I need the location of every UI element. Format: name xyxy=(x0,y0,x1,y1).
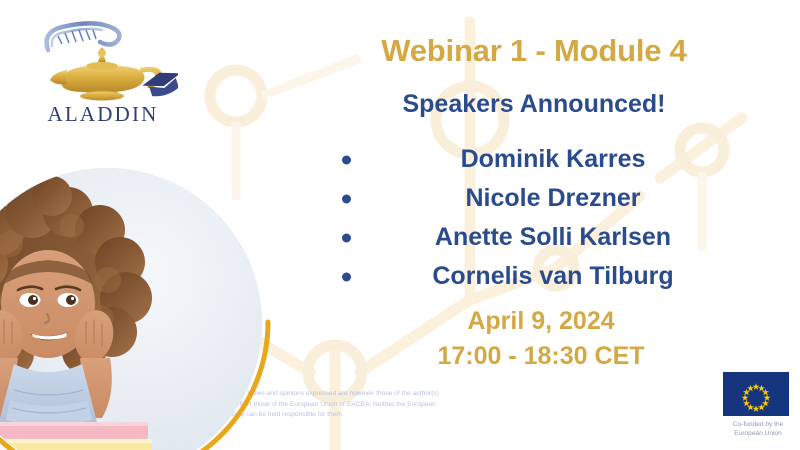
bullet-icon xyxy=(342,155,351,164)
speaker-photo-circle xyxy=(0,168,262,450)
webinar-announcement-poster: ALADDIN Webinar 1 - Module 4 Speakers An… xyxy=(0,0,800,450)
poster-content: Webinar 1 - Module 4 Speakers Announced!… xyxy=(268,0,800,450)
bullet-icon xyxy=(342,194,351,203)
child-with-books-illustration xyxy=(0,168,262,450)
eu-caption-line-2: European Union xyxy=(723,429,793,438)
eu-flag-icon xyxy=(723,372,789,416)
list-item: Cornelis van Tilburg xyxy=(268,257,800,296)
speaker-list: Dominik Karres Nicole Drezner Anette Sol… xyxy=(268,140,800,296)
oil-lamp-icon xyxy=(50,47,162,101)
aladdin-wordmark: ALADDIN xyxy=(28,102,178,127)
bullet-icon xyxy=(342,272,351,281)
list-item: Dominik Karres xyxy=(268,140,800,179)
aladdin-logo: ALADDIN xyxy=(28,6,178,134)
bullet-icon xyxy=(342,233,351,242)
aladdin-lamp-graphic xyxy=(28,6,178,106)
eu-emblem-caption: Co-funded by the European Union xyxy=(723,420,793,438)
event-date: April 9, 2024 xyxy=(268,307,800,336)
eu-emblem: Co-funded by the European Union xyxy=(723,372,795,438)
page-title: Webinar 1 - Module 4 xyxy=(268,33,800,69)
list-item: Nicole Drezner xyxy=(268,179,800,218)
list-item: Anette Solli Karlsen xyxy=(268,218,800,257)
page-subtitle: Speakers Announced! xyxy=(268,90,800,119)
eu-caption-line-1: Co-funded by the xyxy=(723,420,793,429)
event-time: 17:00 - 18:30 CET xyxy=(268,342,800,371)
